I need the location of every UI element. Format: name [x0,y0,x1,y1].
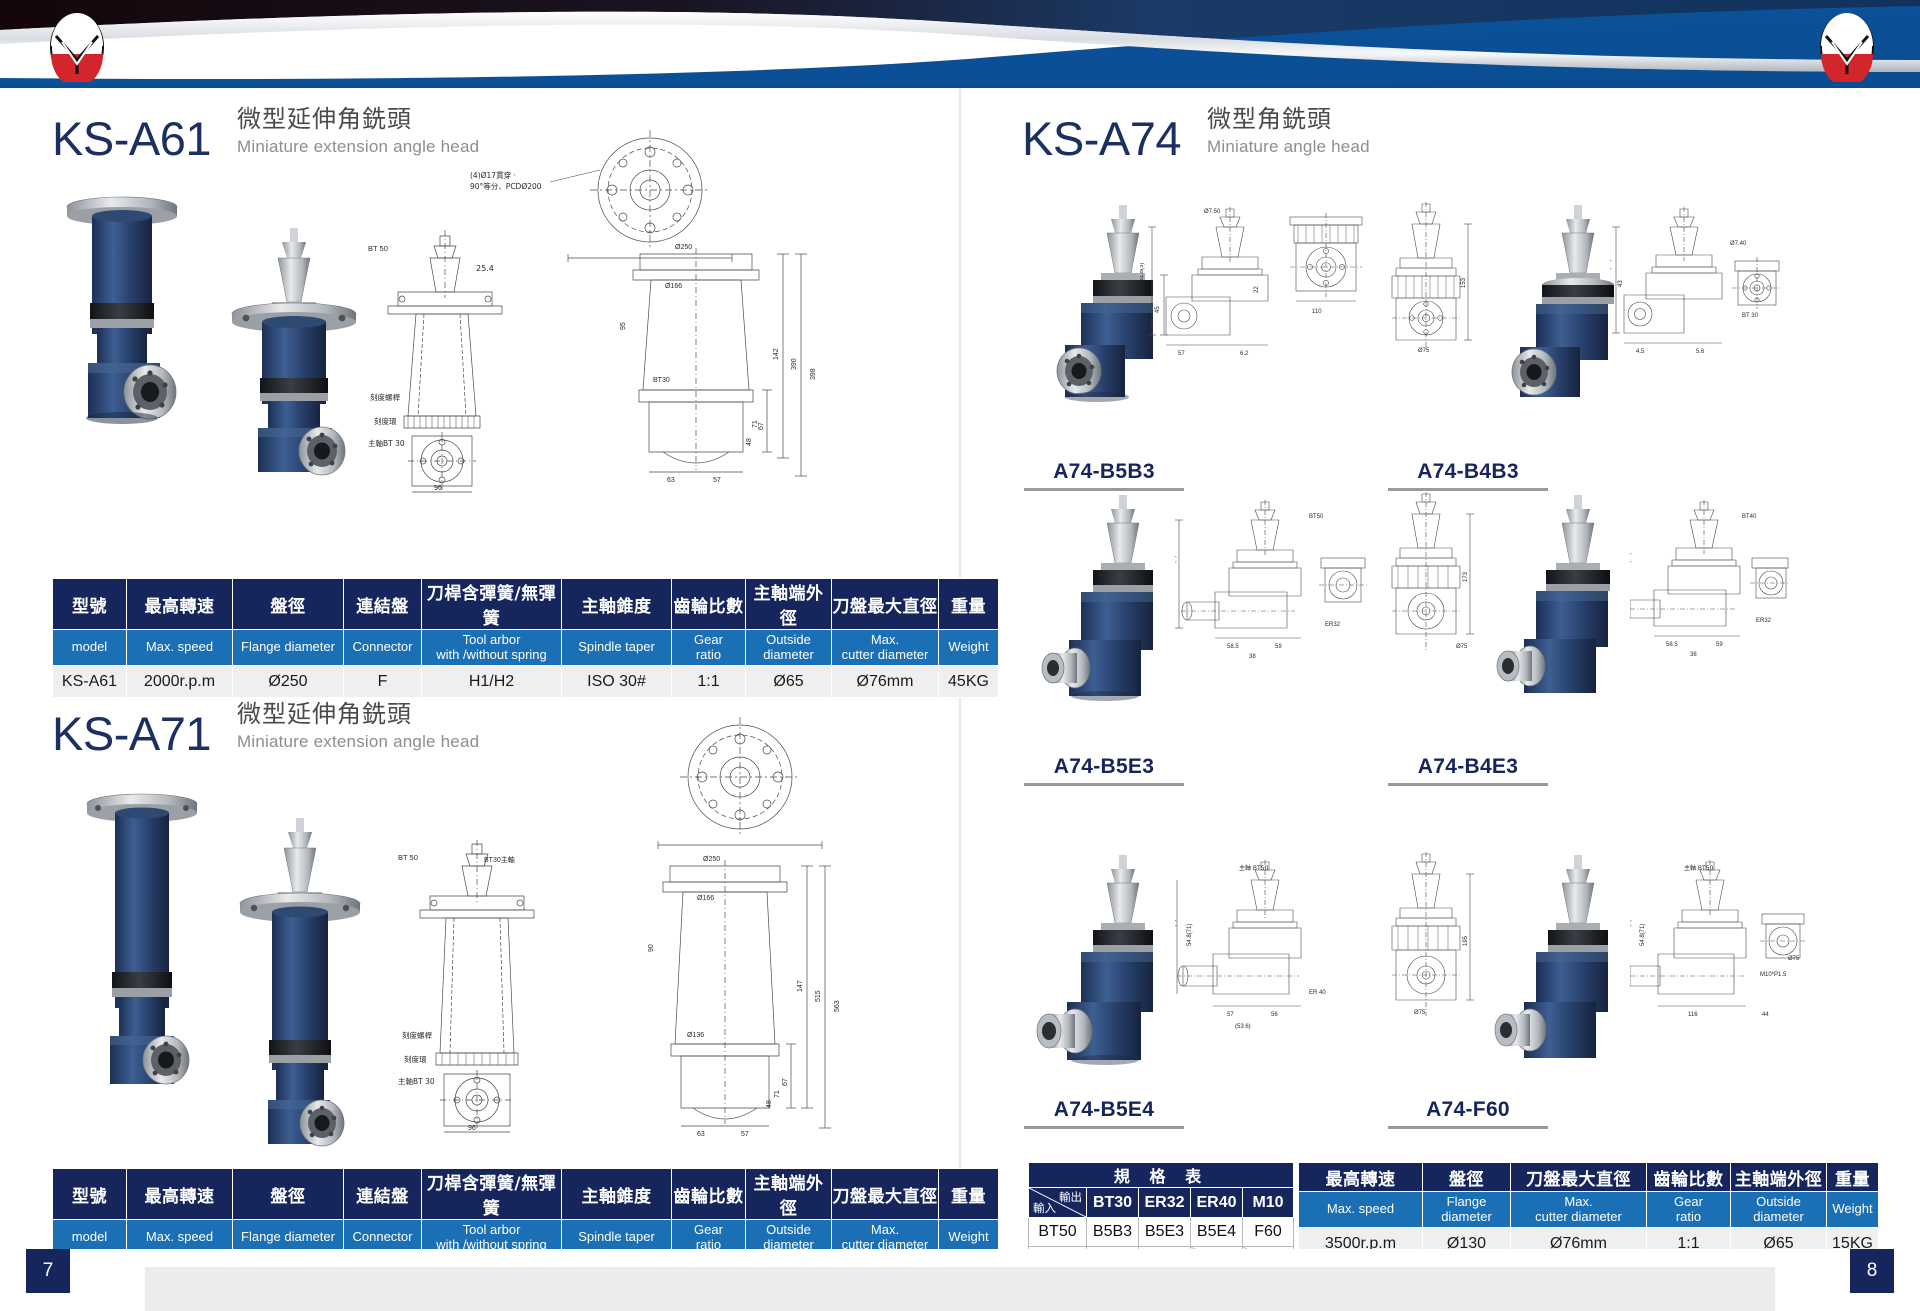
matrix-title: 規 格 表 [1029,1163,1294,1188]
svg-text:BT40: BT40 [1742,514,1757,520]
product-photo-a61-front [50,195,215,455]
svg-text:57: 57 [1178,351,1185,357]
matrix-cell: B5B3 [1087,1218,1139,1247]
svg-text:67: 67 [782,1078,789,1086]
th-taper-cn: 主軸錐度 [562,1169,672,1220]
svg-text:57: 57 [741,1131,749,1138]
th-outside-cn: 主軸端外徑 [746,1169,832,1220]
svg-text:58.5: 58.5 [1227,644,1239,650]
product-name-en: Miniature extension angle head [237,731,479,754]
svg-text:6.2: 6.2 [1240,351,1249,357]
matrix-row-label: BT50 [1029,1218,1087,1247]
technical-drawing-a74-f60: 主軸 BT50 162.8(3) 54.8(71) 11644 M10*P1.5… [1630,858,1810,1063]
model-caption-a74-b5e3: A74-B5E3 [1024,755,1184,790]
svg-text:153: 153 [1461,277,1467,288]
svg-text:63: 63 [697,1131,705,1138]
svg-text:162.8(3): 162.8(3) [1630,920,1632,942]
catalog-page: KS-A61 微型延伸角銑頭 Miniature extension angle… [0,0,1920,1311]
technical-drawing-a74-b5e3: BT50 161.8(3) 58.559 ER32 38 [1175,498,1370,698]
svg-text:95: 95 [620,322,627,330]
svg-text:155.3(40): 155.3(40) [1630,552,1632,578]
svg-text:63: 63 [667,477,675,484]
svg-text:Ø250: Ø250 [703,856,720,863]
th-taper-cn: 主軸錐度 [562,579,672,630]
svg-text:563: 563 [834,1000,841,1012]
svg-text:刻度螺桿: 刻度螺桿 [370,392,400,402]
svg-text:57: 57 [713,477,721,484]
product-name-en: Miniature extension angle head [237,136,479,159]
svg-text:6.5: 6.5 [1144,339,1153,345]
page-number-right: 8 [1850,1249,1894,1293]
td-gearratio: 1:1 [672,666,746,698]
td-cutterdia: Ø76mm [832,666,939,698]
technical-drawing-a74-b5e4-side: 195 Ø75 [1370,850,1480,1060]
company-logo-right [1818,12,1876,82]
svg-text:Ø75: Ø75 [1414,1010,1426,1016]
svg-text:43: 43 [1618,280,1624,287]
th-flange-en: Flange diameter [233,630,344,666]
product-name-cn: 微型延伸角銑頭 [237,700,479,729]
product-header-ks-a61: KS-A61 微型延伸角銑頭 Miniature extension angle… [52,105,479,162]
svg-text:刻度環: 刻度環 [374,416,397,426]
model-caption-a74-b5e4: A74-B5E4 [1024,1098,1184,1133]
svg-text:38: 38 [1249,654,1256,660]
svg-text:刻度螺桿: 刻度螺桿 [402,1030,432,1040]
product-code: KS-A61 [52,117,211,162]
th-cutterdia-cn: 刀盤最大直徑 [832,579,939,630]
svg-text:90°等分、PCDØ200: 90°等分、PCDØ200 [470,181,542,191]
svg-text:Ø166: Ø166 [697,895,714,902]
svg-text:ER 40: ER 40 [1309,990,1326,996]
svg-text:BT50: BT50 [1309,514,1324,520]
th-weight-cn: 重量 [939,1169,999,1220]
svg-text:195: 195 [1463,935,1469,946]
technical-drawing-a71-plan: (4)Ø17貫穿 ‧ 90°等分、PCDØ200 25.4 [640,715,840,875]
th-outside-cn: 主軸端外徑 [1731,1163,1827,1192]
matrix-col-er32: ER32 [1139,1188,1191,1218]
svg-text:71: 71 [774,1090,781,1098]
svg-text:ER32: ER32 [1756,618,1772,624]
td-weight: 45KG [939,666,999,698]
footer-strip [145,1267,1775,1311]
svg-text:48: 48 [746,438,753,446]
svg-text:BT30: BT30 [653,377,670,384]
svg-text:59: 59 [1716,642,1723,648]
matrix-header-row: 輸出 輸入 BT30 ER32 ER40 M10 [1029,1188,1294,1218]
th-maxspeed-en: Max. speed [1299,1192,1423,1228]
th-maxspeed-cn: 最高轉速 [127,1169,233,1220]
table-header-en-row: model Max. speed Flange diameter Connect… [53,630,999,666]
td-toolarbor: H1/H2 [422,666,562,698]
svg-text:主軸 BT50: 主軸 BT50 [1239,864,1269,872]
svg-text:116: 116 [1688,1012,1698,1018]
th-weight-en: Weight [1827,1192,1879,1228]
td-connector: F [344,666,422,698]
th-gearratio-cn: 齒輪比數 [1647,1163,1731,1192]
svg-text:刻度環: 刻度環 [404,1054,427,1064]
matrix-col-m10: M10 [1243,1188,1294,1218]
technical-drawing-a74-b5e3-side: 173 Ø75 [1370,490,1480,700]
footer: 7 8 [0,1249,1920,1311]
svg-text:48: 48 [766,1100,773,1108]
spec-table-ks-a74: 最高轉速 盤徑 刀盤最大直徑 齒輪比數 主軸端外徑 重量 Max. speed … [1298,1162,1879,1260]
svg-text:90: 90 [648,944,655,952]
svg-text:161.8(3): 161.8(3) [1175,556,1177,578]
svg-text:(4)Ø17貫穿 ‧: (4)Ø17貫穿 ‧ [470,170,516,180]
th-outside-en: Outside diameter [746,630,832,666]
th-gearratio-en: Gear ratio [672,630,746,666]
svg-text:110: 110 [1312,309,1322,315]
technical-drawing-a74-b5b3: 161.8(3) 45 576.2 Ø7.50 110 22 6.5 [1140,205,1380,400]
th-model-cn: 型號 [53,579,127,630]
th-connector-cn: 連結盤 [344,579,422,630]
svg-text:96: 96 [468,1125,476,1132]
svg-text:147: 147 [797,980,804,992]
th-weight-en: Weight [939,630,999,666]
table-header-en-row: Max. speed Flange diameter Max. cutter d… [1299,1192,1879,1228]
product-name-en: Miniature angle head [1207,136,1370,159]
company-logo-left [48,12,106,82]
svg-text:Ø75: Ø75 [1456,644,1468,650]
th-flange-en: Flange diameter [1423,1192,1511,1228]
svg-text:22: 22 [1254,286,1260,293]
product-photo-a71-taper [218,818,393,1148]
svg-text:96: 96 [434,485,442,492]
svg-text:主軸BT 30: 主軸BT 30 [398,1076,435,1086]
matrix-col-er40: ER40 [1191,1188,1243,1218]
table-value-row: KS-A61 2000r.p.m Ø250 F H1/H2 ISO 30# 1:… [53,666,999,698]
svg-text:45: 45 [1155,306,1161,313]
svg-text:44: 44 [1762,1012,1769,1018]
th-connector-en: Connector [344,630,422,666]
svg-text:Ø75: Ø75 [1788,956,1800,962]
matrix-corner-input: 輸入 [1033,1200,1056,1216]
table-header-cn-row: 型號 最高轉速 盤徑 連結盤 刀桿含彈簧/無彈簧 主軸錐度 齒輪比數 主軸端外徑… [53,1169,999,1220]
svg-text:(53.6): (53.6) [1235,1024,1251,1030]
svg-text:390: 390 [791,358,798,370]
svg-text:59: 59 [1275,644,1282,650]
top-banner [0,0,1920,88]
technical-drawing-a74-b5e4: 主軸 BT50 162.8(3) 54.8(71) 5756 ER 40 (53… [1175,858,1375,1063]
th-maxspeed-cn: 最高轉速 [127,579,233,630]
svg-text:161.8(3): 161.8(3) [1140,263,1145,285]
th-cutterdia-cn: 刀盤最大直徑 [1511,1163,1647,1192]
product-name-cn: 微型延伸角銑頭 [237,105,479,134]
svg-text:Ø250: Ø250 [675,244,692,251]
svg-text:71: 71 [752,420,759,428]
product-header-ks-a71: KS-A71 微型延伸角銑頭 Miniature extension angle… [52,700,479,757]
svg-text:57: 57 [1227,1012,1234,1018]
technical-drawing-a71-side: Ø250 Ø166 Ø136 147 515 563 67 71 48 90 6… [635,852,845,1142]
th-model-en: model [53,630,127,666]
th-flange-cn: 盤徑 [1423,1163,1511,1192]
matrix-corner-output: 輸出 [1059,1189,1082,1205]
matrix-corner-cell: 輸出 輸入 [1029,1188,1087,1218]
svg-text:BT 50: BT 50 [398,853,418,862]
svg-text:56: 56 [1271,1012,1278,1018]
technical-drawing-a74-b4b3: 155.3(40) 43 4.55.6 BT 30 Ø7.40 [1610,205,1785,400]
svg-text:M10*P1.5: M10*P1.5 [1760,972,1787,978]
svg-text:Ø7.40: Ø7.40 [1730,241,1747,247]
svg-text:155.3(40): 155.3(40) [1610,259,1612,285]
td-outside: Ø65 [746,666,832,698]
svg-text:Ø166: Ø166 [665,283,682,290]
svg-text:58.5: 58.5 [1666,642,1678,648]
svg-text:BT 50: BT 50 [368,244,388,253]
matrix-title-row: 規 格 表 [1029,1163,1294,1188]
svg-text:54.8(71): 54.8(71) [1640,924,1646,946]
svg-text:54.8(71): 54.8(71) [1187,924,1193,946]
th-model-cn: 型號 [53,1169,127,1220]
svg-text:38: 38 [1690,652,1697,658]
technical-drawing-a74-b5b3-side: 153 Ø75 [1370,200,1480,395]
th-gearratio-en: Gear ratio [1647,1192,1731,1228]
th-outside-cn: 主軸端外徑 [746,579,832,630]
th-toolarbor-cn: 刀桿含彈簧/無彈簧 [422,1169,562,1220]
svg-text:173: 173 [1463,571,1469,582]
svg-text:Ø75: Ø75 [1418,348,1430,354]
th-toolarbor-en: Tool arbor with /without spring [422,630,562,666]
svg-text:5.6: 5.6 [1696,349,1705,355]
svg-text:主軸BT 30: 主軸BT 30 [368,438,405,448]
svg-text:398: 398 [810,368,817,380]
th-cutterdia-en: Max. cutter diameter [832,630,939,666]
td-taper: ISO 30# [562,666,672,698]
th-gearratio-cn: 齒輪比數 [672,1169,746,1220]
technical-drawing-a74-b4e3: BT40 155.3(40) 58.559 ER32 38 [1630,498,1790,698]
matrix-cell: B5E3 [1139,1218,1191,1247]
th-flange-cn: 盤徑 [233,1169,344,1220]
page-number-left: 7 [26,1249,70,1293]
technical-drawing-a61-side: Ø250 Ø166 BT30 142 390 67 398 95 63 57 7… [605,240,820,490]
svg-text:162.8(3): 162.8(3) [1175,920,1177,942]
th-weight-cn: 重量 [939,579,999,630]
svg-text:主軸 BT50: 主軸 BT50 [1684,864,1714,872]
product-code: KS-A74 [1022,117,1181,162]
product-photo-a61-taper [212,228,387,478]
th-toolarbor-cn: 刀桿含彈簧/無彈簧 [422,579,562,630]
product-name-cn: 微型角銑頭 [1207,105,1370,134]
td-flange: Ø250 [233,666,344,698]
product-code: KS-A71 [52,712,211,757]
td-model: KS-A61 [53,666,127,698]
svg-text:515: 515 [815,990,822,1002]
th-gearratio-cn: 齒輪比數 [672,579,746,630]
svg-text:Ø136: Ø136 [687,1032,704,1039]
th-weight-cn: 重量 [1827,1163,1879,1192]
svg-text:BT30主軸: BT30主軸 [484,855,515,864]
svg-text:Ø7.50: Ø7.50 [1204,209,1221,215]
model-caption-a74-f60: A74-F60 [1388,1098,1548,1133]
th-maxspeed-cn: 最高轉速 [1299,1163,1423,1192]
model-caption-a74-b4e3: A74-B4E3 [1388,755,1548,790]
matrix-row-bt50: BT50 B5B3 B5E3 B5E4 F60 [1029,1218,1294,1247]
table-header-cn-row: 型號 最高轉速 盤徑 連結盤 刀桿含彈簧/無彈簧 主軸錐度 齒輪比數 主軸端外徑… [53,579,999,630]
svg-text:4.5: 4.5 [1636,349,1645,355]
th-cutterdia-en: Max. cutter diameter [1511,1192,1647,1228]
td-maxspeed: 2000r.p.m [127,666,233,698]
th-flange-cn: 盤徑 [233,579,344,630]
product-header-ks-a74: KS-A74 微型角銑頭 Miniature angle head [1022,105,1370,162]
spec-table-ks-a61: 型號 最高轉速 盤徑 連結盤 刀桿含彈簧/無彈簧 主軸錐度 齒輪比數 主軸端外徑… [52,578,999,698]
matrix-cell: F60 [1243,1218,1294,1247]
matrix-cell: B5E4 [1191,1218,1243,1247]
table-header-cn-row: 最高轉速 盤徑 刀盤最大直徑 齒輪比數 主軸端外徑 重量 [1299,1163,1879,1192]
th-taper-en: Spindle taper [562,630,672,666]
svg-text:ER32: ER32 [1325,622,1341,628]
matrix-col-bt30: BT30 [1087,1188,1139,1218]
th-maxspeed-en: Max. speed [127,630,233,666]
model-caption-a74-b5b3: A74-B5B3 [1024,460,1184,495]
technical-drawing-a61-section: BT 50 刻度螺桿 刻度環 主軸BT 30 96 [368,228,598,493]
th-outside-en: Outside diameter [1731,1192,1827,1228]
svg-text:67: 67 [758,422,765,430]
svg-text:142: 142 [773,348,780,360]
product-photo-a71-front [62,792,222,1127]
svg-text:BT 30: BT 30 [1742,313,1759,319]
th-cutterdia-cn: 刀盤最大直徑 [832,1169,939,1220]
technical-drawing-a71-section: BT 50 BT30主軸 刻度螺桿 刻度環 主軸BT 30 96 [398,838,618,1138]
th-connector-cn: 連結盤 [344,1169,422,1220]
